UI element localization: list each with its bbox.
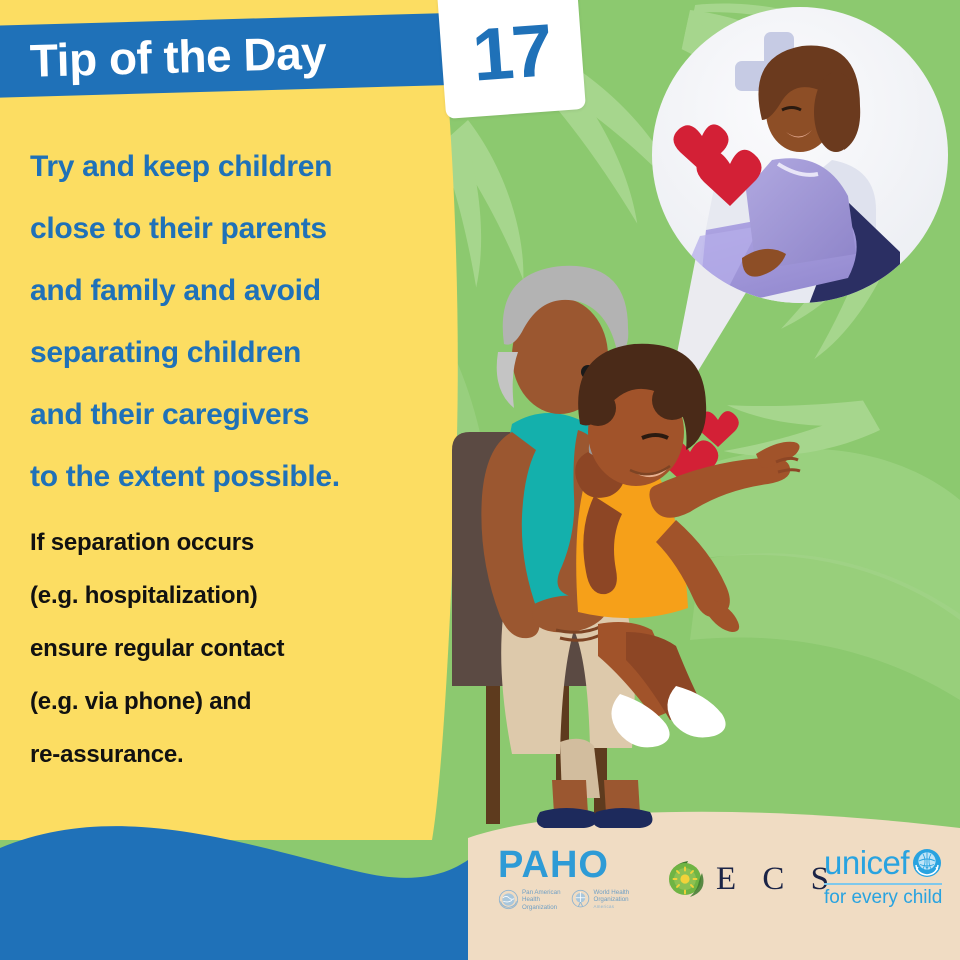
- ecs-logo: E C S: [664, 857, 838, 901]
- headline-line: to the extent possible.: [30, 446, 450, 508]
- headline-line: and their caregivers: [30, 384, 450, 446]
- headline-line: close to their parents: [30, 198, 450, 260]
- banner-title: Tip of the Day: [0, 29, 327, 85]
- paho-wordmark: PAHO: [498, 846, 629, 884]
- headline-line: and family and avoid: [30, 260, 450, 322]
- tip-of-the-day-banner: Tip of the Day: [0, 13, 461, 98]
- headline-line: separating children: [30, 322, 450, 384]
- ecs-sun-icon: [664, 857, 708, 901]
- seal-line: World Health: [594, 889, 630, 896]
- paho-logo: PAHO Pan American Health Organization: [498, 846, 629, 911]
- who-emblem-icon: [570, 889, 591, 910]
- headline-line: Try and keep children: [30, 136, 450, 198]
- tip-text-block: Try and keep children close to their par…: [30, 136, 450, 781]
- logo-bar: PAHO Pan American Health Organization: [468, 822, 960, 960]
- ecs-wordmark: E C S: [716, 863, 838, 896]
- subcopy-line: (e.g. via phone) and: [30, 675, 450, 728]
- day-number: 17: [470, 13, 555, 116]
- who-seal-text: World Health Organization Americas: [594, 889, 630, 910]
- paho-seal-text: Pan American Health Organization: [522, 889, 561, 911]
- unicef-logo: unicef for every child: [824, 846, 942, 907]
- pan-american-health-seal: Pan American Health Organization: [498, 889, 561, 911]
- subcopy-text: If separation occurs (e.g. hospitalizati…: [30, 516, 450, 781]
- headline-text: Try and keep children close to their par…: [30, 136, 450, 508]
- infographic-canvas: Tip of the Day 17 Try and keep children …: [0, 0, 960, 960]
- unicef-row: unicef: [824, 846, 942, 879]
- subcopy-line: (e.g. hospitalization): [30, 569, 450, 622]
- unicef-wordmark: unicef: [824, 846, 909, 879]
- seal-line: Pan American: [522, 889, 561, 896]
- subcopy-line: re-assurance.: [30, 728, 450, 781]
- day-number-card: 17: [436, 0, 586, 119]
- seal-line: Organization: [522, 904, 561, 911]
- subcopy-line: ensure regular contact: [30, 622, 450, 675]
- unicef-emblem-icon: [912, 848, 942, 878]
- subcopy-line: If separation occurs: [30, 516, 450, 569]
- world-health-organization-seal: World Health Organization Americas: [570, 889, 630, 911]
- seal-line: Health: [522, 896, 561, 903]
- globe-laurel-icon: [498, 889, 519, 910]
- seal-line: Organization: [594, 896, 630, 903]
- seal-region: Americas: [594, 904, 630, 910]
- unicef-divider: [824, 883, 942, 885]
- unicef-tagline: for every child: [824, 888, 942, 907]
- chair-leg-back: [486, 676, 500, 824]
- paho-seals: Pan American Health Organization Worl: [498, 889, 629, 911]
